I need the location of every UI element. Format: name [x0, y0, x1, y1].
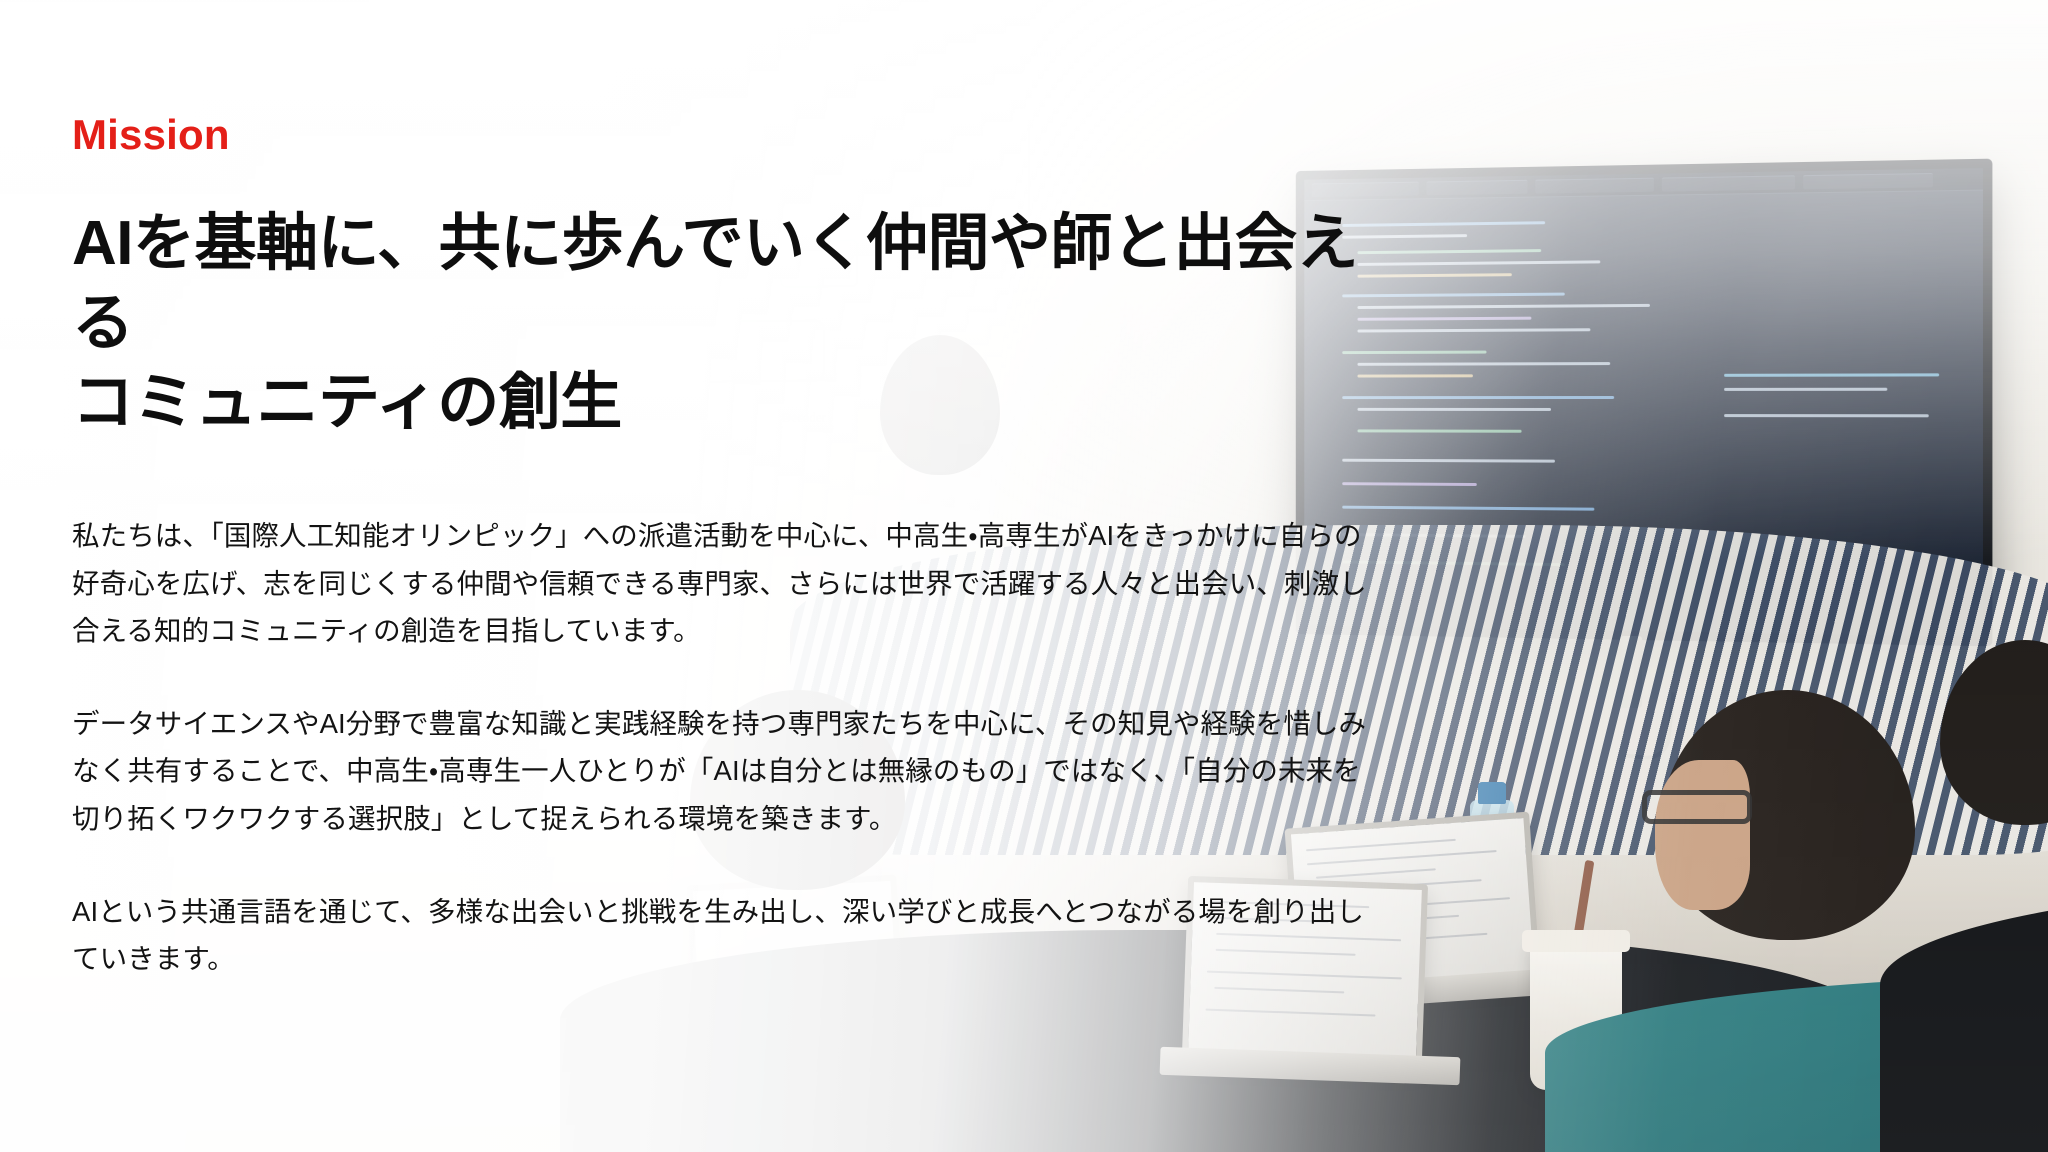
mission-paragraph-3: AIという共通言語を通じて、多様な出会いと挑戦を生み出し、深い学びと成長へとつな… — [72, 888, 1382, 983]
section-eyebrow-mission: Mission — [72, 112, 1412, 158]
page-title: AIを基軸に、共に歩んでいく仲間や師と出会える コミュニティの創生 — [72, 204, 1362, 442]
mission-body: 私たちは、「国際人工知能オリンピック」への派遣活動を中心に、中高生・高専生がAI… — [72, 512, 1382, 982]
mission-slide: Layer Norm + Self-Attention Encoder Embe… — [0, 0, 2048, 1152]
mission-paragraph-1: 私たちは、「国際人工知能オリンピック」への派遣活動を中心に、中高生・高専生がAI… — [72, 512, 1382, 654]
headline-line-2: コミュニティの創生 — [72, 363, 1362, 442]
mission-paragraph-2: データサイエンスやAI分野で豊富な知識と実践経験を持つ専門家たちを中心に、その知… — [72, 700, 1382, 842]
headline-line-1: AIを基軸に、共に歩んでいく仲間や師と出会える — [72, 204, 1362, 363]
mission-content: Mission AIを基軸に、共に歩んでいく仲間や師と出会える コミュニティの創… — [72, 112, 1412, 983]
